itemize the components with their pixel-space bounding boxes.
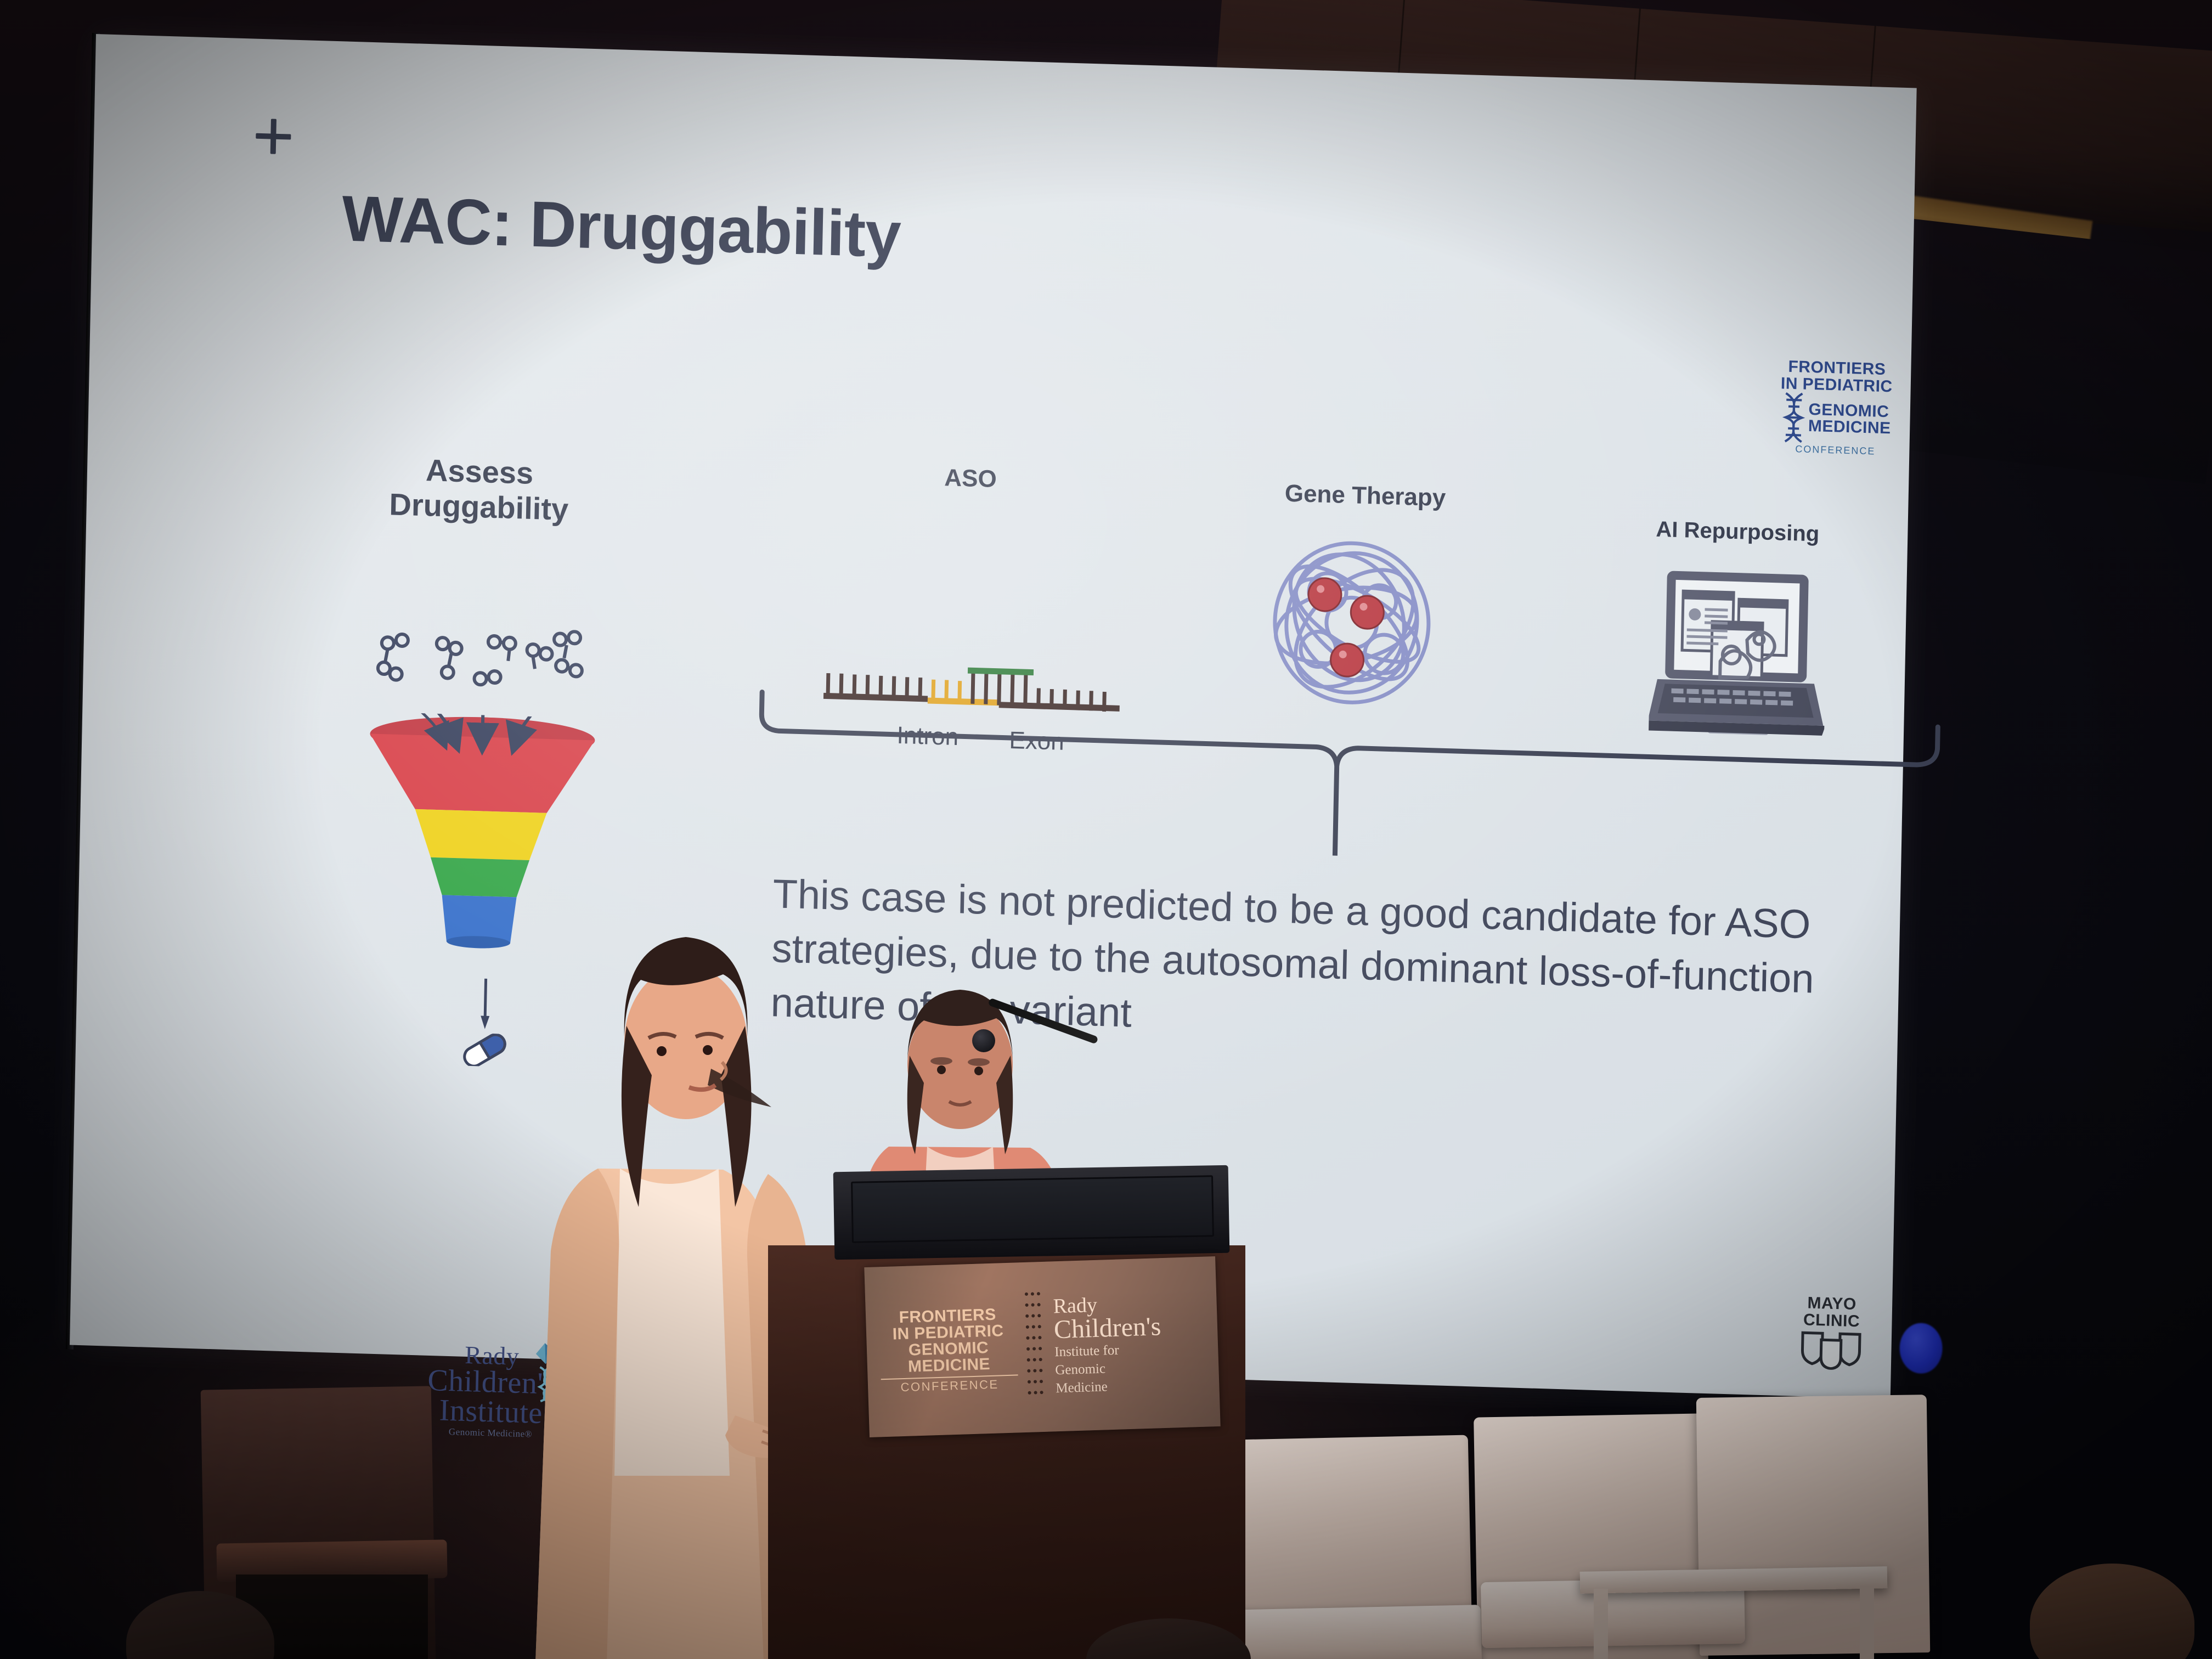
viral-vector-icon (1265, 538, 1438, 708)
column-heading-ai-repurposing: AI Repurposing (1617, 516, 1859, 548)
audience-head-right (2030, 1564, 2194, 1659)
stage-side-table-leg-left (1594, 1589, 1608, 1659)
podium-sign-conference-block: FRONTIERS IN PEDIATRIC GENOMIC MEDICINE … (879, 1306, 1019, 1394)
funnel-output-arrow (479, 978, 492, 1031)
conference-logo: FRONTIERS IN PEDIATRIC GENOMIC MEDICINE (1769, 358, 1903, 458)
conference-photo-scene: WAC: Druggability FRONTIERS IN PEDIATRIC… (0, 0, 2212, 1659)
conference-logo-line4: MEDICINE (1808, 418, 1891, 437)
mayo-logo-line2: CLINIC (1782, 1311, 1881, 1331)
column-heading-gene-therapy: Gene Therapy (1244, 478, 1486, 513)
column-heading-aso: ASO (855, 461, 1086, 496)
dna-helix-icon (1780, 392, 1807, 443)
column-heading-assess: Assess Druggability (360, 451, 597, 529)
podium-sign-line4: MEDICINE (881, 1355, 1018, 1376)
slide-title: WAC: Druggability (341, 181, 901, 272)
pill-icon (459, 1032, 509, 1067)
plus-icon (256, 119, 291, 155)
stage-armchair-seat-1 (1223, 1605, 1482, 1659)
mayo-clinic-logo: MAYO CLINIC (1781, 1294, 1882, 1372)
stage-side-table-leg-right (1860, 1585, 1874, 1659)
presenter-laptop (851, 1175, 1214, 1243)
podium-sign-line5: CONFERENCE (881, 1374, 1019, 1394)
podium-sign: FRONTIERS IN PEDIATRIC GENOMIC MEDICINE … (864, 1256, 1220, 1437)
podium-sign-rady-block: Rady Children's Institute for Genomic Me… (1053, 1291, 1206, 1396)
podium-sign-rady-line5: Medicine (1056, 1376, 1206, 1396)
podium-sign-rady-line4: Genomic (1055, 1358, 1206, 1378)
funnel-icon (363, 712, 598, 965)
podium-sign-dot-divider (1023, 1289, 1049, 1405)
podium-sign-rady-line2: Children's (1053, 1312, 1204, 1343)
blue-oval-logo (1899, 1322, 1943, 1374)
microphone-head-icon (972, 1029, 995, 1052)
mayo-shields-icon (1798, 1330, 1864, 1371)
